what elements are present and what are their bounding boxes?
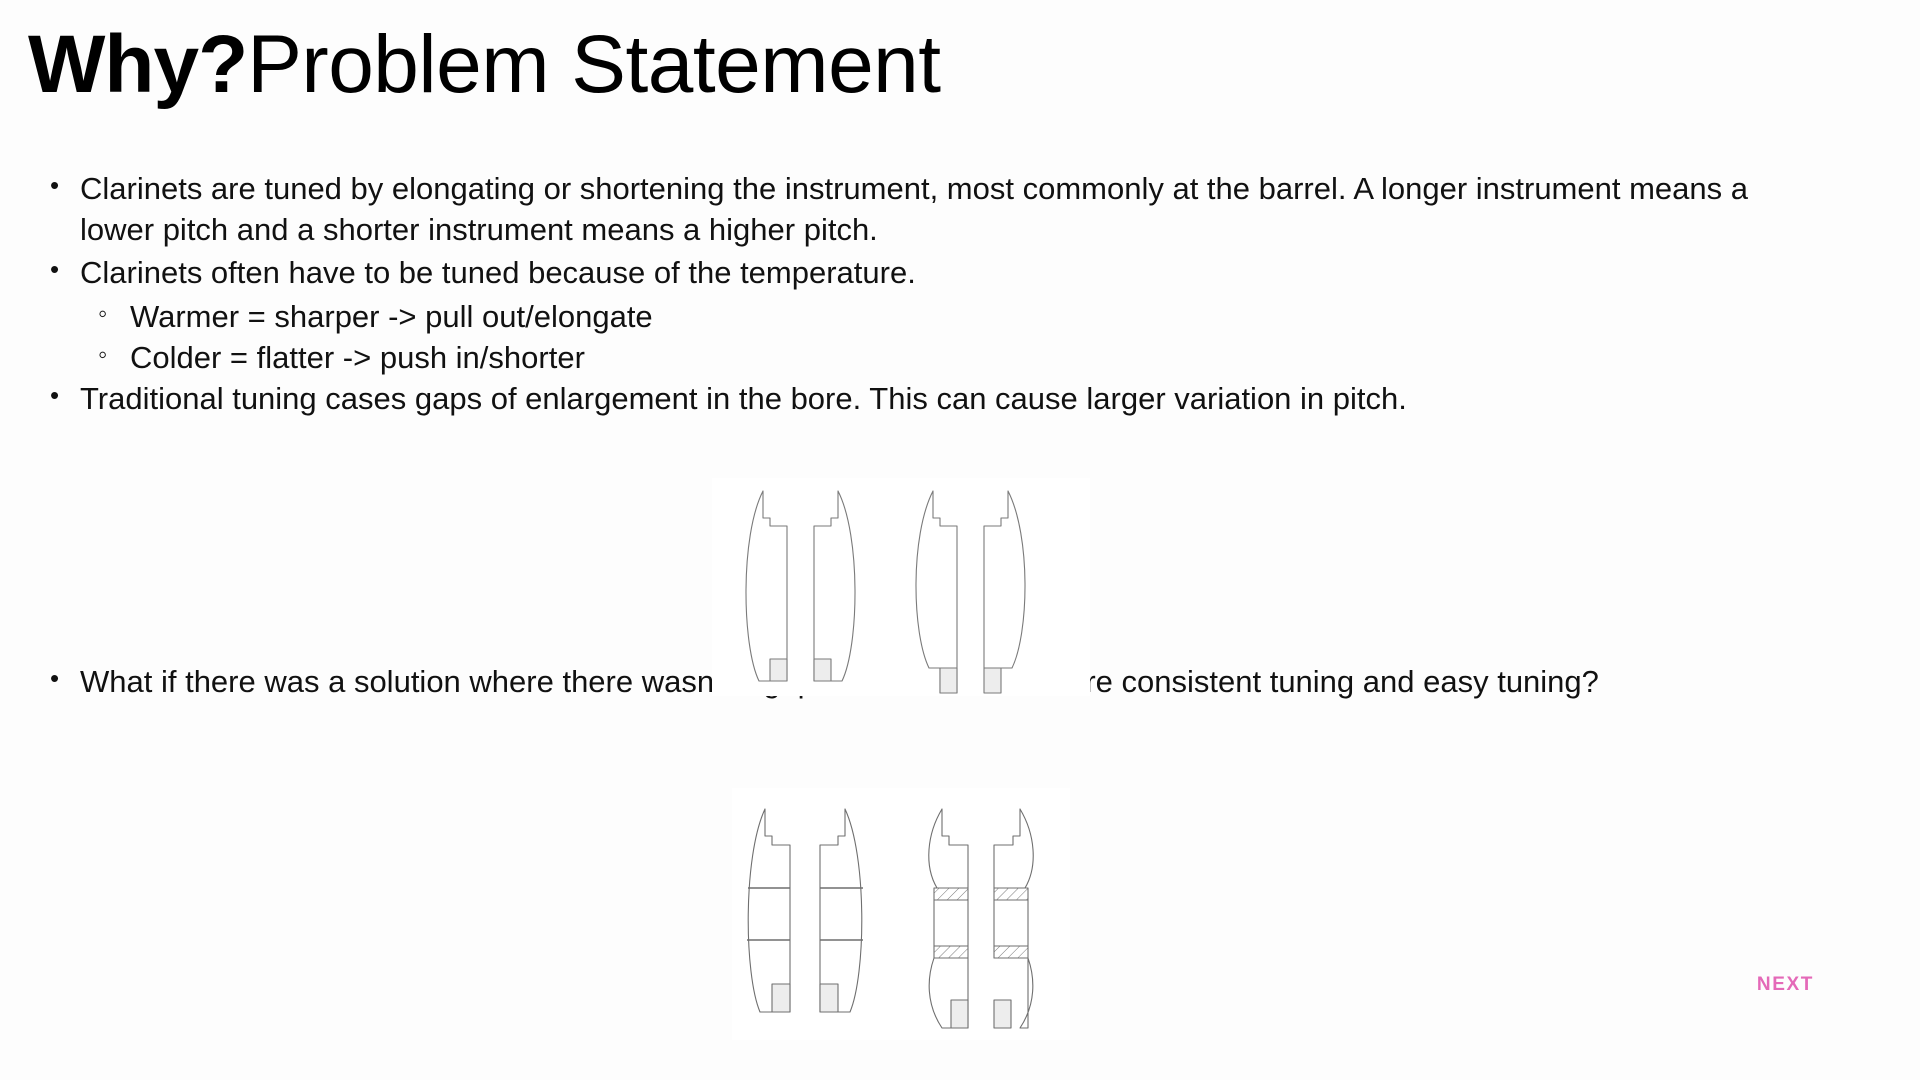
list-item: Clarinets often have to be tuned because… bbox=[28, 252, 1818, 293]
page-title-rest: Problem Statement bbox=[247, 19, 940, 110]
clarinet-barrel-threaded-svg bbox=[732, 788, 1070, 1040]
clarinet-barrel-traditional-svg bbox=[712, 478, 1090, 696]
page-title-emphasis: Why? bbox=[28, 19, 247, 110]
slide-root: Why?Problem Statement Clarinets are tune… bbox=[0, 0, 1920, 1080]
next-button[interactable]: NEXT bbox=[1751, 970, 1820, 1000]
page-title: Why?Problem Statement bbox=[28, 22, 941, 108]
bullet-sublist: Warmer = sharper -> pull out/elongate Co… bbox=[28, 296, 1888, 378]
list-item: Traditional tuning cases gaps of enlarge… bbox=[28, 378, 1818, 419]
list-item: Colder = flatter -> push in/shorter bbox=[80, 337, 1888, 378]
list-item: Clarinets are tuned by elongating or sho… bbox=[28, 168, 1818, 250]
clarinet-barrel-threaded-diagram bbox=[732, 788, 1070, 1040]
clarinet-barrel-traditional-diagram bbox=[712, 478, 1090, 696]
list-item: Warmer = sharper -> pull out/elongate bbox=[80, 296, 1888, 337]
